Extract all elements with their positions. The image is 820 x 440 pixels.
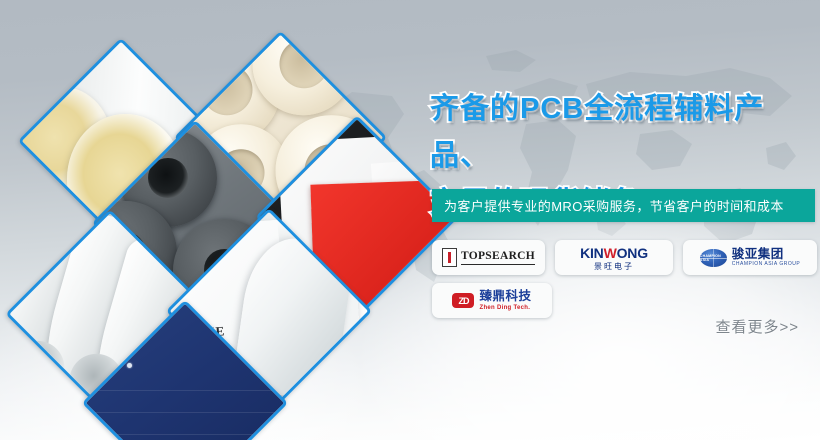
kinwong-chinese-name: 景旺电子	[594, 263, 634, 271]
topsearch-underline	[461, 264, 535, 265]
zhen-ding-mark-icon: ZD	[452, 293, 474, 308]
partner-logo-topsearch[interactable]: TOPSEARCH	[432, 240, 545, 275]
partner-logo-kinwong[interactable]: KINWONG 景旺电子	[555, 240, 673, 275]
product-collage: JIE	[0, 0, 420, 440]
partner-logo-champion-asia[interactable]: CHAMPION ASIA 骏亚集团 CHAMPION ASIA GROUP	[683, 240, 817, 275]
globe-icon: CHAMPION ASIA	[700, 249, 727, 267]
promo-banner: JIE 齐备的PCB全流程辅料产品、 充足的现货储备	[0, 0, 820, 440]
champion-chinese-name: 骏亚集团	[732, 248, 800, 261]
partner-logo-list: TOPSEARCH KINWONG 景旺电子 CHAMPION ASIA	[432, 240, 820, 326]
banner-content: 齐备的PCB全流程辅料产品、 充足的现货储备 为客户提供专业的MRO采购服务，节…	[425, 0, 820, 440]
kinwong-wordmark: KINWONG	[580, 245, 648, 261]
view-more-link[interactable]: 查看更多>>	[715, 316, 799, 337]
champion-english-name: CHAMPION ASIA GROUP	[732, 262, 800, 267]
zhen-ding-english-name: Zhen Ding Tech.	[479, 305, 531, 311]
partner-logo-zhen-ding[interactable]: ZD 臻鼎科技 Zhen Ding Tech.	[432, 283, 552, 318]
zhen-ding-chinese-name: 臻鼎科技	[479, 290, 531, 303]
topsearch-mark-icon	[442, 248, 457, 267]
partner-logo-row-2: ZD 臻鼎科技 Zhen Ding Tech.	[432, 283, 820, 318]
topsearch-wordmark: TOPSEARCH	[461, 250, 535, 262]
partner-logo-row-1: TOPSEARCH KINWONG 景旺电子 CHAMPION ASIA	[432, 240, 820, 275]
banner-subtitle-bar: 为客户提供专业的MRO采购服务，节省客户的时间和成本	[432, 189, 815, 222]
banner-subtitle-text: 为客户提供专业的MRO采购服务，节省客户的时间和成本	[432, 196, 784, 215]
